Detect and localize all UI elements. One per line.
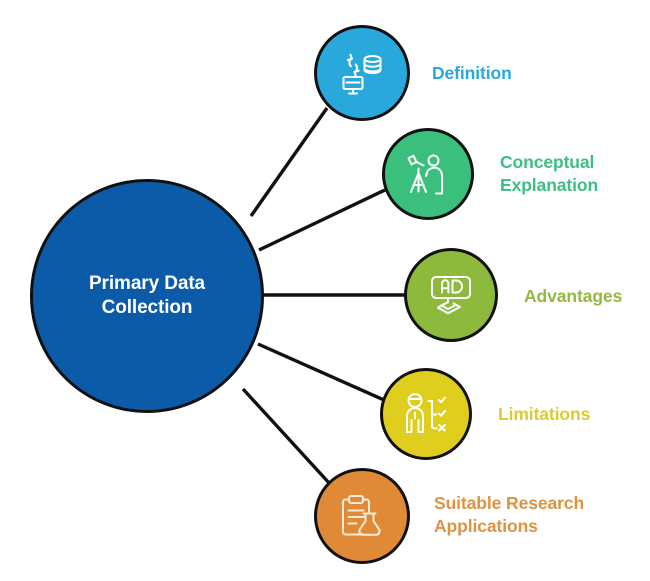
branch-node-conceptual-explanation[interactable] [382,128,474,220]
branch-node-suitable-research-applications[interactable] [314,468,410,564]
branch-node-advantages[interactable] [404,248,498,342]
branch-label-conceptual-explanation: ConceptualExplanation [500,151,598,197]
connector-center-to-limitations [258,344,384,400]
branch-label-suitable-research-applications-line-2: Applications [434,516,538,536]
connector-center-to-definition [251,108,327,216]
telescope-tripod-observer-icon [403,149,453,199]
connector-center-to-conceptual-explanation [259,190,385,250]
branch-label-limitations-line-1: Limitations [498,404,590,424]
branch-node-limitations[interactable] [380,368,472,460]
database-monitor-sync-icon [337,48,387,98]
ad-sign-hand-icon [426,270,476,320]
branch-label-suitable-research-applications-line-1: Suitable Research [434,493,584,513]
branch-label-definition-line-1: Definition [432,63,512,83]
branch-label-conceptual-explanation-line-2: Explanation [500,175,598,195]
central-node-primary-data-collection[interactable]: Primary DataCollection [30,179,264,413]
connector-center-to-suitable-research-applications [243,389,330,484]
branch-label-advantages-line-1: Advantages [524,286,622,306]
central-node-label-line-2: Collection [102,297,193,318]
branch-label-limitations: Limitations [498,403,590,426]
branch-label-definition: Definition [432,62,512,85]
branch-label-conceptual-explanation-line-1: Conceptual [500,152,594,172]
branch-label-suitable-research-applications: Suitable ResearchApplications [434,492,584,538]
central-node-label-line-1: Primary Data [89,273,205,294]
branch-label-advantages: Advantages [524,285,622,308]
radial-mind-map-diagram: Primary DataCollection Definition [0,0,650,581]
central-node-label: Primary DataCollection [89,272,205,321]
person-checklist-error-icon [401,389,451,439]
branch-node-definition[interactable] [314,25,410,121]
clipboard-flask-icon [337,491,387,541]
